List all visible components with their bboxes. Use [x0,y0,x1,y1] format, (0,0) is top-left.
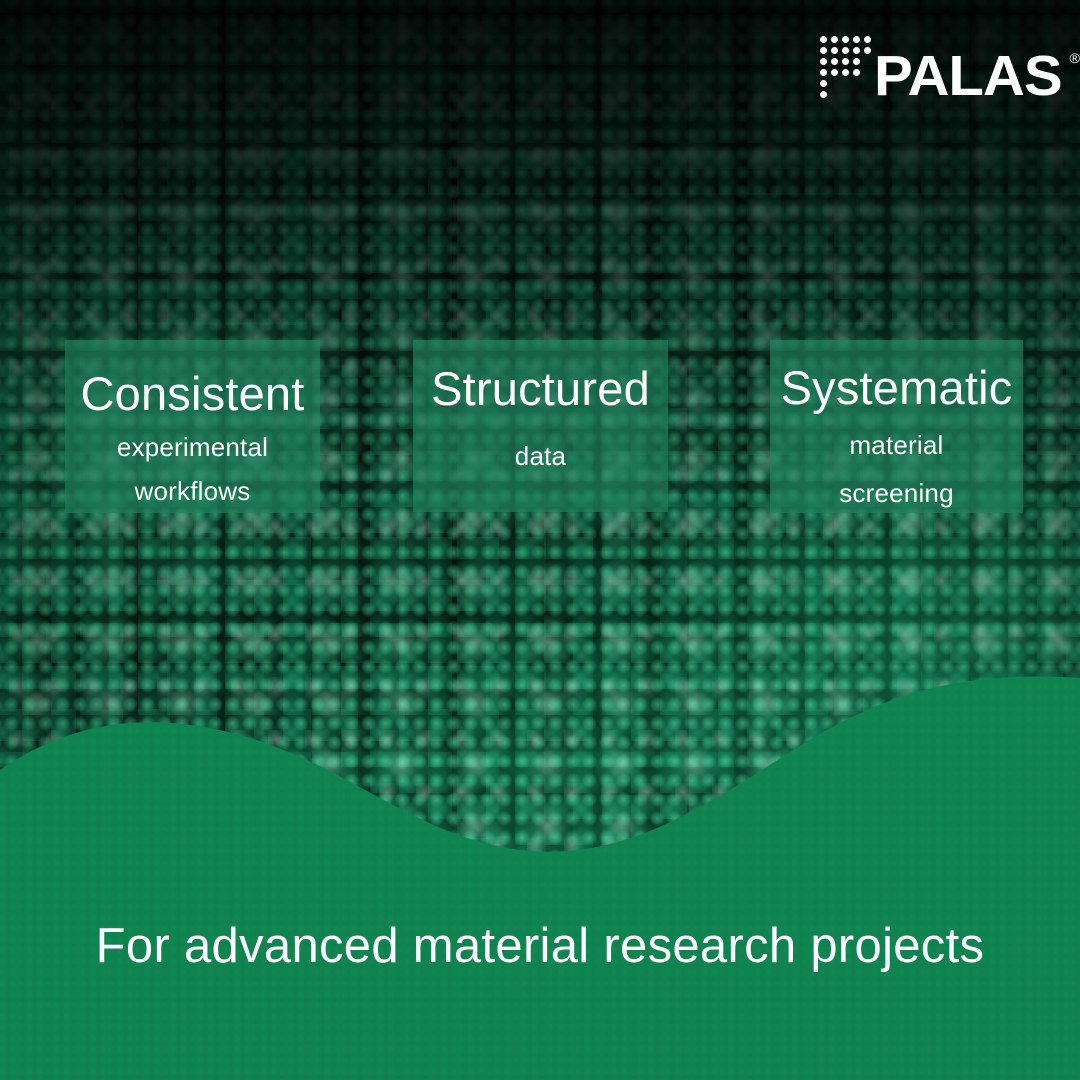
feature-box-subtitle-line-1: material [849,429,943,463]
feature-box-title: Systematic [781,360,1013,415]
feature-box-subtitle-line-2: workflows [135,475,251,509]
feature-box-title: Consistent [80,366,304,421]
feature-box-subtitle-line-1: experimental [117,431,268,465]
feature-box-subtitle-line-1: data [515,440,566,474]
feature-box-group: Consistent experimental workflows Struct… [0,0,1080,1080]
feature-box-consistent[interactable]: Consistent experimental workflows [65,340,320,513]
feature-box-title: Structured [431,361,650,416]
marketing-graphic: PALAS ® Consistent experimental workflow… [0,0,1080,1080]
headline: For advanced material research projects [0,920,1080,974]
feature-box-subtitle-line-2: screening [839,477,954,511]
feature-box-systematic[interactable]: Systematic material screening [770,340,1023,513]
feature-box-structured[interactable]: Structured data [413,340,668,512]
